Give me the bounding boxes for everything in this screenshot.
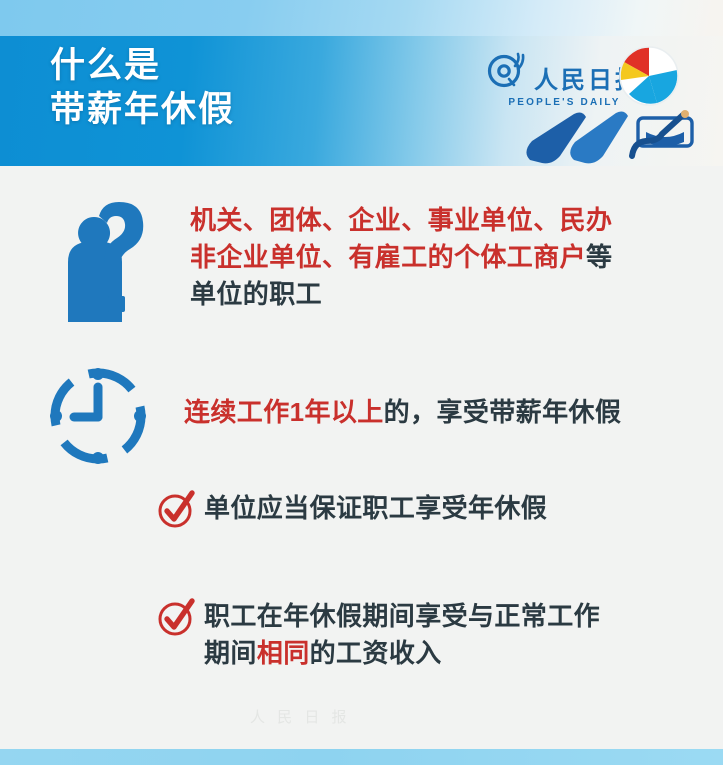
row-2-text: 连续工作1年以上的，享受带薪年休假 bbox=[184, 394, 621, 431]
content-row-2: 连续工作1年以上的，享受带薪年休假 bbox=[48, 366, 621, 471]
title-line-1: 什么是 bbox=[50, 44, 235, 88]
content-row-1: 机关、团体、企业、事业单位、民办 非企业单位、有雇工的个体工商户等 单位的职工 bbox=[52, 200, 612, 327]
row-1-line-3: 单位的职工 bbox=[190, 276, 612, 313]
row-3-line-1: 单位应当保证职工享受年休假 bbox=[204, 490, 547, 527]
row-1-seg-4: 单位的职工 bbox=[190, 279, 322, 309]
row-2-seg-2: 的，享受带薪年休假 bbox=[384, 397, 622, 427]
page-title: 什么是 带薪年休假 bbox=[50, 44, 235, 132]
row-1-seg-1: 机关、团体、企业、事业单位、民办 bbox=[190, 205, 612, 235]
row-1-seg-2: 非企业单位、有雇工的个体工商户 bbox=[190, 242, 586, 272]
row-2-seg-1: 连续工作1年以上 bbox=[184, 397, 384, 427]
bottom-strip bbox=[0, 749, 723, 765]
content-row-4: 职工在年休假期间享受与正常工作 期间相同的工资收入 bbox=[156, 598, 600, 672]
row-3-text: 单位应当保证职工享受年休假 bbox=[204, 490, 547, 527]
check-circle-icon bbox=[156, 490, 196, 535]
infographic-poster: 什么是 带薪年休假 人民日报 PEOPLE'S DAILY bbox=[0, 0, 723, 765]
row-4-seg-2: 期间 bbox=[204, 638, 257, 668]
row-1-text: 机关、团体、企业、事业单位、民办 非企业单位、有雇工的个体工商户等 单位的职工 bbox=[190, 202, 612, 313]
dive-gear-icon bbox=[512, 108, 712, 171]
content-row-3: 单位应当保证职工享受年休假 bbox=[156, 490, 547, 535]
clock-icon bbox=[48, 366, 148, 471]
beach-ball-icon bbox=[617, 44, 681, 113]
check-circle-icon bbox=[156, 598, 196, 643]
row-4-line-1: 职工在年休假期间享受与正常工作 bbox=[204, 598, 600, 635]
at-symbol-icon bbox=[487, 52, 529, 93]
row-1-line-2: 非企业单位、有雇工的个体工商户等 bbox=[190, 239, 612, 276]
row-1-seg-3: 等 bbox=[586, 242, 612, 272]
row-1-line-1: 机关、团体、企业、事业单位、民办 bbox=[190, 202, 612, 239]
sky-strip bbox=[0, 0, 723, 36]
row-4-seg-1: 职工在年休假期间享受与正常工作 bbox=[204, 601, 600, 631]
watermark: 人 民 日 报 bbox=[250, 706, 510, 727]
row-2-line-1: 连续工作1年以上的，享受带薪年休假 bbox=[184, 394, 621, 431]
row-4-text: 职工在年休假期间享受与正常工作 期间相同的工资收入 bbox=[204, 598, 600, 672]
row-4-seg-4: 的工资收入 bbox=[310, 638, 442, 668]
row-4-line-2: 期间相同的工资收入 bbox=[204, 635, 600, 672]
row-3-seg-1: 单位应当保证职工享受年休假 bbox=[204, 493, 547, 523]
person-question-icon bbox=[52, 200, 156, 327]
title-line-2: 带薪年休假 bbox=[50, 88, 235, 132]
row-4-seg-3: 相同 bbox=[257, 638, 310, 668]
logo-name-en: PEOPLE'S DAILY bbox=[508, 97, 620, 108]
